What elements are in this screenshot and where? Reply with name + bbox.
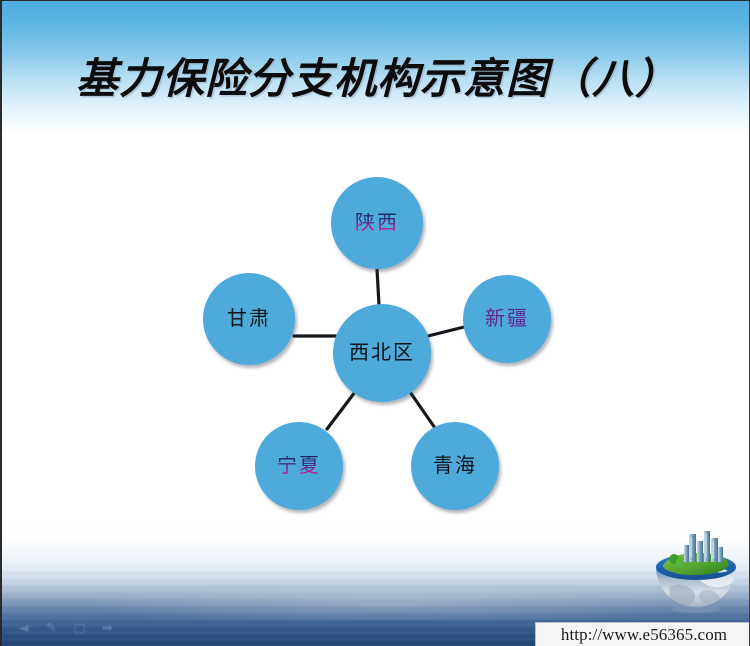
node-qinghai[interactable]: 青海 [411,422,499,510]
edge-center-to-ningxia [327,392,355,429]
node-label-qinghai: 青海 [433,456,477,476]
node-label-northwest-region: 西北区 [349,343,415,363]
node-gansu[interactable]: 甘肃 [203,273,295,365]
menu-box-icon[interactable]: ▢ [72,622,87,635]
node-label-shaanxi: 陕西 [355,213,399,233]
presentation-slide: 基力保险分支机构示意图（八） 陕西 甘肃 新疆 宁夏 青海 [0,0,750,646]
edge-center-to-xinjiang [428,327,464,336]
presentation-nav-controls[interactable]: ◄ ✎ ▢ ➡ [16,622,115,635]
next-arrow-icon[interactable]: ➡ [100,622,115,635]
edge-center-to-qinghai [410,392,435,428]
url-bar[interactable]: http://www.e56365.com [535,622,750,646]
node-ningxia[interactable]: 宁夏 [255,422,343,510]
previous-arrow-icon[interactable]: ◄ [16,622,31,635]
node-northwest-region-center[interactable]: 西北区 [333,304,431,402]
edge-center-to-shaanxi [377,269,379,305]
region-branch-diagram: 陕西 甘肃 新疆 宁夏 青海 西北区 [187,169,567,519]
url-text: http://www.e56365.com [561,625,727,645]
node-label-gansu: 甘肃 [227,309,271,329]
node-label-xinjiang: 新疆 [485,309,529,329]
pen-tool-icon[interactable]: ✎ [44,622,59,635]
slide-title: 基力保险分支机构示意图（八） [2,58,750,102]
node-xinjiang[interactable]: 新疆 [463,275,551,363]
globe-city-icon [650,529,742,617]
node-shaanxi[interactable]: 陕西 [331,177,423,269]
globe-city-logo [650,529,742,617]
node-label-ningxia: 宁夏 [277,456,321,476]
water-sheen-highlight [2,586,749,620]
